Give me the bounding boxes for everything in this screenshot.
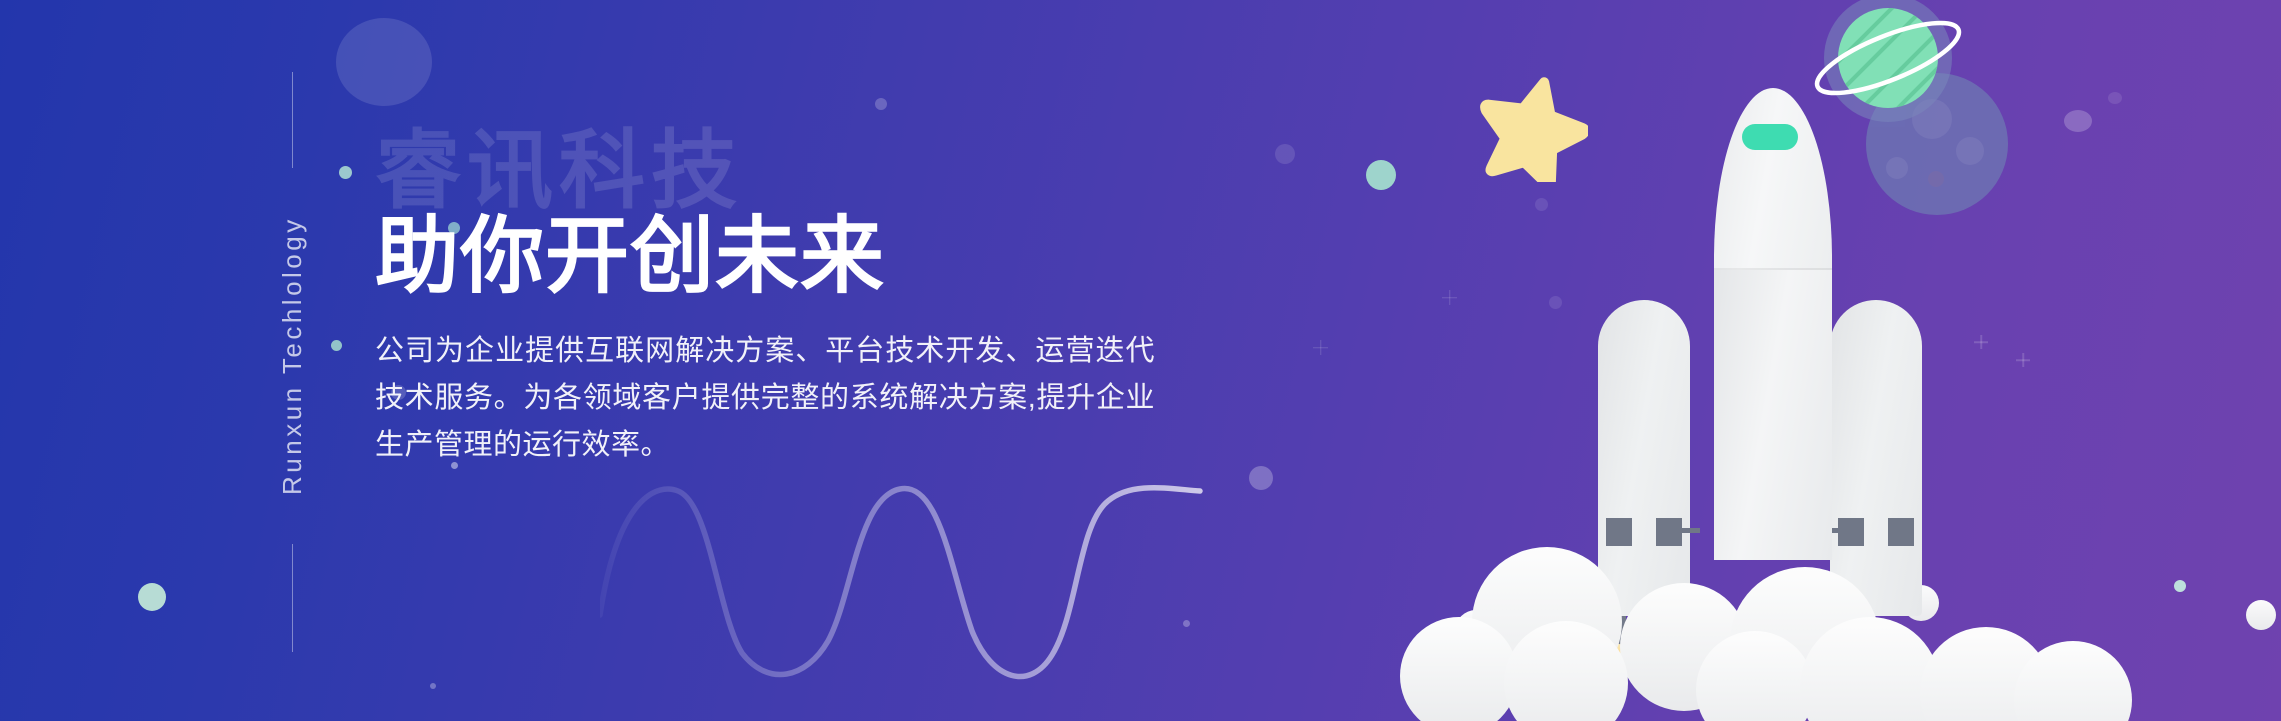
decor-dot <box>1275 144 1295 164</box>
vertical-brand: Runxun Techlology <box>262 72 322 652</box>
decor-dot <box>430 683 436 689</box>
wave-line-icon <box>600 455 1260 695</box>
sparkle-icon <box>1313 340 1328 355</box>
rocket-body-tube <box>1714 268 1832 560</box>
brand-rule-bottom <box>292 544 293 652</box>
rocket-window <box>1742 124 1798 150</box>
decor-dot-mint <box>2174 580 2186 592</box>
decor-dot-mint <box>339 166 352 179</box>
decor-dot-mint <box>138 583 166 611</box>
hero-banner: Runxun Techlology 睿讯科技 助你开创未来 公司为企业提供互联网… <box>0 0 2281 721</box>
decor-dot <box>875 98 887 110</box>
rocket-nose-cone <box>1714 88 1832 268</box>
sparkle-icon <box>1442 290 1457 305</box>
decor-dot <box>1535 198 1548 211</box>
rocket-core-stage <box>1714 88 1832 558</box>
decor-dot <box>2108 92 2122 104</box>
brand-watermark: 睿讯科技 <box>375 128 743 214</box>
brand-vertical-label: Runxun Techlology <box>277 168 308 544</box>
decor-dot <box>336 18 432 106</box>
decor-dot-mint <box>1366 160 1396 190</box>
decor-dot-mint <box>331 340 342 351</box>
page-title: 助你开创未来 <box>375 212 885 300</box>
decor-dot <box>2246 600 2276 630</box>
sparkle-icon <box>1974 335 1988 349</box>
brand-rule-top <box>292 72 293 168</box>
hero-description: 公司为企业提供互联网解决方案、平台技术开发、运营迭代技术服务。为各领域客户提供完… <box>375 328 1155 469</box>
sparkle-icon <box>2016 353 2030 367</box>
cloud-icon <box>1400 521 2120 721</box>
